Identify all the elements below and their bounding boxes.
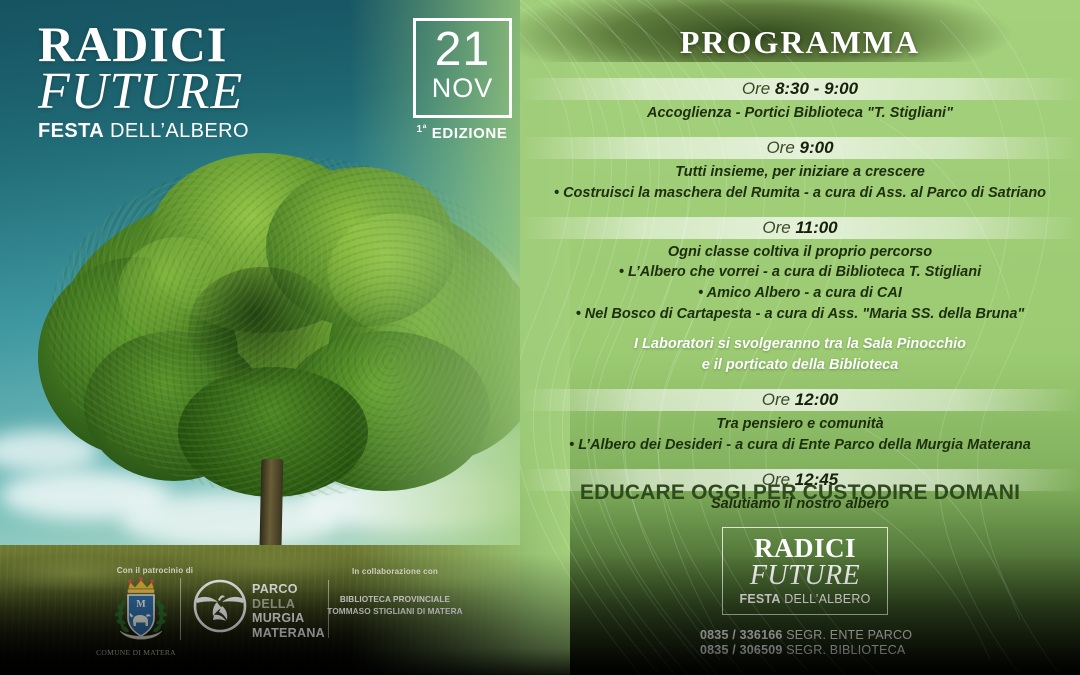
bullet-icon: •	[554, 185, 563, 201]
program-time-text: Ore 12:00	[762, 390, 839, 409]
parco-line-2: DELLA	[252, 597, 325, 612]
parco-logo-text: PARCO DELLA MURGIA MATERANA	[252, 582, 325, 640]
program-item-text: L’Albero che vorrei - a cura di Bibliote…	[628, 264, 981, 280]
contact-row: 0835 / 336166 SEGR. ENTE PARCO	[700, 628, 912, 643]
edition-ordinal: 1ª	[417, 124, 427, 135]
brand-radici: RADICI	[38, 20, 249, 69]
program-note: I Laboratori si svolgeranno tra la Sala …	[530, 334, 1070, 376]
program-time-row: Ore 11:00	[520, 217, 1080, 239]
brand-lockup: RADICI FUTURE FESTA DELL’ALBERO	[38, 20, 249, 143]
contact-office: SEGR. ENTE PARCO	[783, 628, 913, 642]
collaboration-label: In collaborazione con	[336, 567, 454, 576]
program-time-label: Ore	[762, 470, 795, 489]
biblioteca-line-1: BIBLIOTECA PROVINCIALE	[322, 594, 468, 606]
program-subtitle: Tutti insieme, per iniziare a crescere	[530, 162, 1070, 183]
program-time-row: Ore 9:00	[520, 137, 1080, 159]
contact-row: 0835 / 306509 SEGR. BIBLIOTECA	[700, 643, 912, 658]
bullet-icon: •	[698, 285, 707, 301]
program-time-row: Ore 12:00	[520, 389, 1080, 411]
brand-subtitle: FESTA DELL’ALBERO	[38, 120, 249, 143]
program-time-text: Ore 11:00	[762, 218, 837, 237]
program-time-text: Ore 12:45	[762, 470, 839, 489]
parco-murgia-materana-logo: PARCO DELLA MURGIA MATERANA	[192, 578, 320, 640]
footer-brand-subtitle-bold: FESTA	[740, 592, 781, 606]
biblioteca-line-2: TOMMASO STIGLIANI DI MATERA	[322, 606, 468, 618]
program-item: • L’Albero che vorrei - a cura di Biblio…	[526, 262, 1074, 283]
program-item-text: Accoglienza - Portici Biblioteca "T. Sti…	[647, 105, 953, 121]
contact-numbers: 0835 / 336166 SEGR. ENTE PARCO0835 / 306…	[700, 628, 912, 658]
program-time-label: Ore	[762, 390, 795, 409]
program-note-line: e il porticato della Biblioteca	[530, 355, 1070, 376]
footer-brand-subtitle-light: DELL’ALBERO	[781, 592, 871, 606]
footer-brand-lockup: RADICI FUTURE FESTA DELL’ALBERO	[722, 527, 888, 615]
program-block: Ore 12:00Tra pensiero e comunità• L’Albe…	[520, 389, 1080, 456]
program-block: Ore 9:00Tutti insieme, per iniziare a cr…	[520, 137, 1080, 204]
program-note-line: I Laboratori si svolgeranno tra la Sala …	[530, 334, 1070, 355]
program-subtitle: Tra pensiero e comunità	[530, 414, 1070, 435]
falcon-circle-icon	[192, 578, 248, 634]
bullet-icon: •	[619, 264, 628, 280]
date-badge: 21 NOV	[413, 18, 512, 118]
program-time-value: 12:00	[795, 390, 838, 409]
program-block: Ore 8:30 - 9:00Accoglienza - Portici Bib…	[520, 78, 1080, 124]
parco-line-3: MURGIA	[252, 611, 325, 626]
program-time-label: Ore	[762, 218, 795, 237]
bullet-icon: •	[569, 437, 578, 453]
contact-office: SEGR. BIBLIOTECA	[783, 643, 906, 657]
program-item-text: L’Albero dei Desideri - a cura di Ente P…	[578, 437, 1031, 453]
program-time-label: Ore	[766, 138, 799, 157]
program-item: • Costruisci la maschera del Rumita - a …	[526, 183, 1074, 204]
program-item-text: Costruisci la maschera del Rumita - a cu…	[563, 185, 1046, 201]
program-time-value: 9:00	[800, 138, 834, 157]
program-item-text: Nel Bosco di Cartapesta - a cura di Ass.…	[585, 306, 1025, 322]
program-time-text: Ore 9:00	[766, 138, 833, 157]
svg-text:M: M	[136, 599, 146, 610]
date-day: 21	[416, 26, 509, 74]
biblioteca-credit: BIBLIOTECA PROVINCIALE TOMMASO STIGLIANI…	[322, 594, 468, 617]
brand-subtitle-bold: FESTA	[38, 120, 104, 142]
program-subtitle: Ogni classe coltiva il proprio percorso	[530, 242, 1070, 263]
programma-list: Ore 8:30 - 9:00Accoglienza - Portici Bib…	[520, 78, 1080, 527]
program-time-text: Ore 8:30 - 9:00	[742, 79, 858, 98]
brand-future: FUTURE	[38, 67, 249, 116]
programma-title: PROGRAMMA	[520, 24, 1080, 61]
program-item: Accoglienza - Portici Biblioteca "T. Sti…	[526, 103, 1074, 124]
contact-number: 0835 / 336166	[700, 628, 783, 642]
brand-subtitle-light: DELL’ALBERO	[104, 120, 249, 142]
contact-number: 0835 / 306509	[700, 643, 783, 657]
credits-divider-1	[180, 578, 181, 640]
footer-brand-radici: RADICI	[723, 535, 887, 562]
footer-brand-future: FUTURE	[723, 562, 887, 589]
parco-line-4: MATERANA	[252, 626, 325, 641]
edition-text: EDIZIONE	[427, 125, 507, 142]
program-time-value: 8:30 - 9:00	[775, 79, 858, 98]
program-time-label: Ore	[742, 79, 775, 98]
patronage-label: Con il patrocinio di	[101, 566, 209, 575]
program-time-value: 12:45	[795, 470, 838, 489]
footer-brand-subtitle: FESTA DELL’ALBERO	[723, 592, 887, 606]
date-month: NOV	[416, 74, 509, 102]
program-item: • Nel Bosco di Cartapesta - a cura di As…	[526, 304, 1074, 325]
program-item-text: Amico Albero - a cura di CAI	[707, 285, 902, 301]
program-time-value: 11:00	[795, 218, 837, 237]
program-item: • L’Albero dei Desideri - a cura di Ente…	[526, 435, 1074, 456]
comune-caption: COMUNE DI MATERA	[82, 648, 190, 657]
program-block: Ore 11:00Ogni classe coltiva il proprio …	[520, 217, 1080, 377]
poster-root: RADICI FUTURE FESTA DELL’ALBERO 21 NOV 1…	[0, 0, 1080, 675]
parco-line-1: PARCO	[252, 582, 325, 597]
comune-di-matera-crest-icon: M	[110, 576, 172, 650]
program-item: • Amico Albero - a cura di CAI	[526, 283, 1074, 304]
edition-label: 1ª EDIZIONE	[396, 124, 528, 142]
program-time-row: Ore 8:30 - 9:00	[520, 78, 1080, 100]
bullet-icon: •	[576, 306, 585, 322]
